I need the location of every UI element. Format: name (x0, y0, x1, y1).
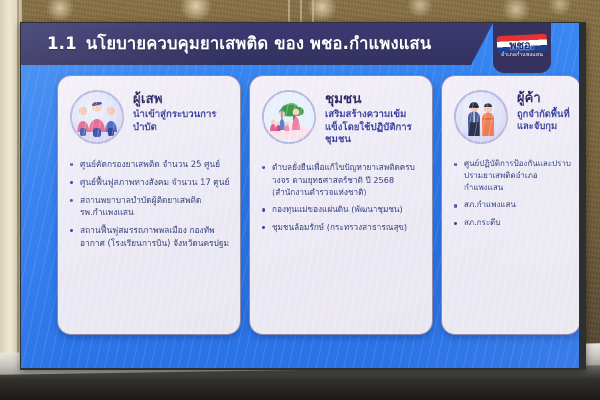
card-dealers-subtitle: ถูกจำกัดพื้นที่และจับกุม (517, 109, 570, 134)
pole-c (312, 0, 314, 22)
community-village-icon (262, 90, 316, 144)
slide-title-label: นโยบายควบคุมยาเสพติด ของ พชอ.กำแพงแสน (86, 34, 431, 53)
slide-title-bar: 1.1นโยบายควบคุมยาเสพติด ของ พชอ.กำแพงแสน (21, 23, 493, 65)
list-item: สถานพยาบาลบำบัดผู้ติดยาเสพติด รพ.กำแพงแส… (69, 194, 231, 220)
card-users-bullets: ศูนย์คัดกรองยาเสพติด จำนวน 25 ศูนย์ ศูนย… (69, 158, 231, 250)
card-community-subtitle: เสริมสร้างความเข้มแข็งโดยใช้ปฏิบัติการชุ… (325, 109, 422, 147)
list-item: ศูนย์คัดกรองยาเสพติด จำนวน 25 ศูนย์ (69, 158, 231, 171)
card-community-title: ชุมชน (325, 92, 422, 107)
group-of-people-art (72, 92, 122, 142)
police-and-suspect-icon (454, 90, 508, 144)
list-item: สภ.กำแพงแสน (453, 199, 571, 211)
card-dealers-title: ผู้ค้า (517, 92, 570, 107)
list-item: ชุมชนล้อมรักษ์ (กระทรวงสาธารณสุข) (261, 221, 423, 233)
card-dealers-bullets: ศูนย์ปฏิบัติการป้องกันและปราบปรามยาเสพติ… (453, 158, 571, 229)
card-community-bullets: ตำบลยั่งยืนเพื่อแก้ไขปัญหายาเสพติดครบวงจ… (261, 161, 423, 233)
cards-row: ผู้เสพ นำเข้าสู่กระบวนการบำบัด ศูนย์คัดก… (21, 75, 579, 368)
logo-subtext: อำเภอกำแพงแสน (497, 51, 547, 59)
wall-pillar-left (0, 0, 22, 400)
card-dealers[interactable]: ผู้ค้า ถูกจำกัดพื้นที่และจับกุม ศูนย์ปฏิ… (441, 75, 579, 335)
list-item: ศูนย์ปฏิบัติการป้องกันและปราบปรามยาเสพติ… (453, 158, 571, 194)
list-item: สภ.กระตีบ (453, 217, 571, 229)
card-users-title: ผู้เสพ (133, 92, 230, 107)
community-village-art (264, 92, 314, 142)
card-users-header: ผู้เสพ นำเข้าสู่กระบวนการบำบัด (58, 76, 240, 148)
card-community[interactable]: ชุมชน เสริมสร้างความเข้มแข็งโดยใช้ปฏิบัต… (249, 75, 433, 335)
list-item: ตำบลยั่งยืนเพื่อแก้ไขปัญหายาเสพติดครบวงจ… (261, 161, 423, 198)
screenshot-root: 1.1นโยบายควบคุมยาเสพติด ของ พชอ.กำแพงแสน… (0, 0, 600, 400)
card-dealers-header: ผู้ค้า ถูกจำกัดพื้นที่และจับกุม (442, 76, 579, 148)
police-and-suspect-art (456, 92, 506, 142)
presentation-screen: 1.1นโยบายควบคุมยาเสพติด ของ พชอ.กำแพงแสน… (21, 23, 579, 368)
card-users-subtitle: นำเข้าสู่กระบวนการบำบัด (133, 109, 230, 134)
slide-number: 1.1 (47, 34, 77, 53)
card-users[interactable]: ผู้เสพ นำเข้าสู่กระบวนการบำบัด ศูนย์คัดก… (57, 75, 241, 335)
list-item: สถานฟื้นฟูสมรรถภาพพลเมือง กองทัพอากาศ (โ… (69, 224, 231, 250)
group-of-people-icon (70, 90, 124, 144)
card-community-header: ชุมชน เสริมสร้างความเข้มแข็งโดยใช้ปฏิบัต… (250, 76, 432, 151)
organization-logo: พชอ. อำเภอกำแพงแสน (493, 23, 551, 73)
list-item: กองทุนแม่ของแผ่นดิน (พัฒนาชุมชน) (261, 203, 423, 215)
page-title: 1.1นโยบายควบคุมยาเสพติด ของ พชอ.กำแพงแสน (21, 31, 431, 57)
pole-b (300, 0, 302, 24)
list-item: ศูนย์ฟื้นฟูสภาพทางสังคม จำนวน 17 ศูนย์ (69, 176, 231, 189)
